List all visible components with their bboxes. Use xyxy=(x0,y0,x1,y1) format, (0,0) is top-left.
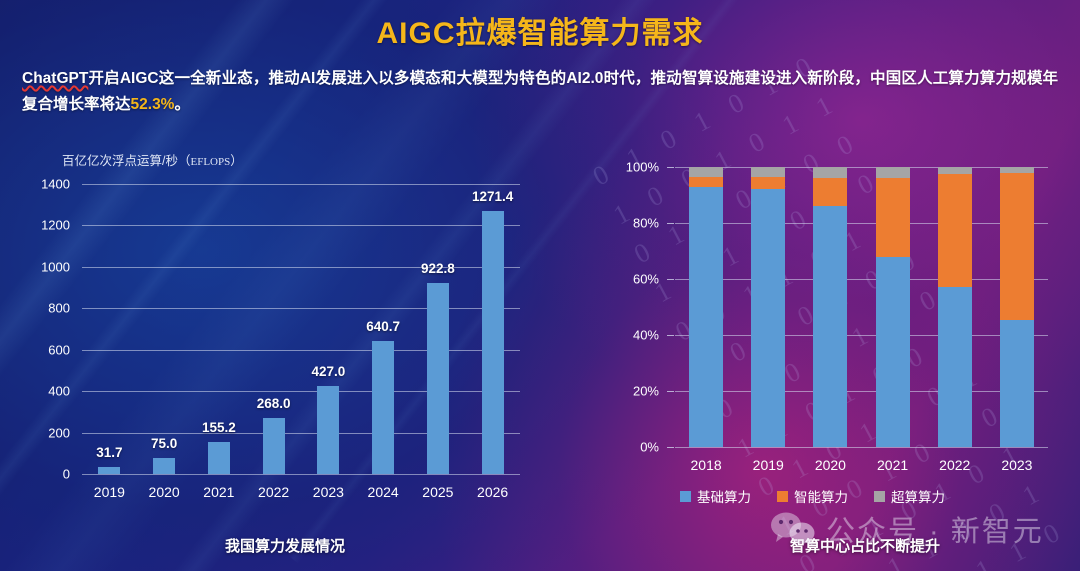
y-axis-tick-label: 40% xyxy=(633,328,659,343)
bar[interactable] xyxy=(208,442,230,474)
stacked-bar-segment[interactable] xyxy=(689,177,723,187)
right-chart-plot-area: 0%20%40%60%80%100%2018201920202021202220… xyxy=(600,160,1070,480)
y-axis-tick xyxy=(667,223,674,224)
stacked-bar-segment[interactable] xyxy=(1000,173,1034,320)
gridline xyxy=(675,167,1048,168)
bar-value-label: 1271.4 xyxy=(472,189,513,204)
y-axis-tick-label: 1400 xyxy=(41,177,70,192)
stacked-bar-segment[interactable] xyxy=(689,167,723,177)
gridline xyxy=(82,474,520,475)
left-chart-plot-area: 020040060080010001200140031.7201975.0202… xyxy=(20,178,540,508)
subtitle-brand: ChatGPT xyxy=(22,70,88,87)
subtitle-paragraph: ChatGPT开启AIGC这一全新业态，推动AI发展进入以多模态和大模型为特色的… xyxy=(0,52,1080,118)
stacked-bar-segment[interactable] xyxy=(689,187,723,447)
y-axis-tick-label: 80% xyxy=(633,216,659,231)
x-axis-tick-label: 2021 xyxy=(203,484,234,500)
subtitle-highlight: 52.3% xyxy=(131,96,175,113)
y-axis-tick-label: 0% xyxy=(640,440,659,455)
stacked-bar-segment[interactable] xyxy=(813,167,847,178)
legend-swatch xyxy=(680,491,691,502)
gridline xyxy=(675,447,1048,448)
bar-value-label: 155.2 xyxy=(202,420,236,435)
y-axis-tick-label: 100% xyxy=(626,160,659,175)
bar[interactable] xyxy=(98,467,120,474)
y-axis-tick-label: 1200 xyxy=(41,218,70,233)
x-axis-tick-label: 2021 xyxy=(877,457,908,473)
slide-root: 0 1 0 1 0 1 0 1 0 0 1 0 1 1 0 1 1 0 1 0 … xyxy=(0,0,1080,571)
y-axis-tick-label: 60% xyxy=(633,272,659,287)
stacked-bar-segment[interactable] xyxy=(938,167,972,174)
bar-value-label: 31.7 xyxy=(96,445,122,460)
x-axis-tick-label: 2018 xyxy=(691,457,722,473)
y-axis-tick-label: 600 xyxy=(48,342,70,357)
y-axis-tick xyxy=(667,335,674,336)
gridline xyxy=(82,308,520,309)
stacked-bar-segment[interactable] xyxy=(1000,320,1034,447)
x-axis-tick-label: 2019 xyxy=(753,457,784,473)
legend-label: 智能算力 xyxy=(794,486,848,506)
legend-label: 基础算力 xyxy=(697,486,751,506)
y-axis-tick-label: 400 xyxy=(48,384,70,399)
gridline xyxy=(675,335,1048,336)
x-axis-tick-label: 2026 xyxy=(477,484,508,500)
subtitle-tail: 。 xyxy=(174,96,190,113)
y-axis-tick xyxy=(667,167,674,168)
gridline xyxy=(82,184,520,185)
stacked-bar-segment[interactable] xyxy=(1000,167,1034,173)
bar[interactable] xyxy=(317,386,339,474)
axis-title-main: 百亿亿次浮点运算/秒（ xyxy=(62,154,190,168)
bar-value-label: 922.8 xyxy=(421,261,455,276)
stacked-bar-segment[interactable] xyxy=(813,206,847,447)
legend-label: 超算算力 xyxy=(891,486,945,506)
stacked-bar-segment[interactable] xyxy=(813,178,847,206)
y-axis-tick-label: 800 xyxy=(48,301,70,316)
axis-title-unit: EFLOPS xyxy=(190,156,230,168)
legend-item[interactable]: 基础算力 xyxy=(680,486,751,506)
page-title: AIGC拉爆智能算力需求 xyxy=(0,0,1080,52)
stacked-bar-segment[interactable] xyxy=(876,178,910,256)
x-axis-tick-label: 2019 xyxy=(94,484,125,500)
header: AIGC拉爆智能算力需求 ChatGPT开启AIGC这一全新业态，推动AI发展进… xyxy=(0,0,1080,118)
x-axis-tick-label: 2023 xyxy=(1001,457,1032,473)
gridline xyxy=(675,279,1048,280)
y-axis-tick xyxy=(667,279,674,280)
bar-value-label: 268.0 xyxy=(257,396,291,411)
y-axis-tick-label: 0 xyxy=(63,467,70,482)
stacked-bar-segment[interactable] xyxy=(876,167,910,178)
stacked-bar-segment[interactable] xyxy=(876,257,910,447)
bar-value-label: 75.0 xyxy=(151,436,177,451)
left-chart-panel: 百亿亿次浮点运算/秒（EFLOPS） 020040060080010001200… xyxy=(20,150,540,560)
y-axis-tick-label: 20% xyxy=(633,384,659,399)
y-axis-tick-label: 200 xyxy=(48,425,70,440)
left-chart-axis-title: 百亿亿次浮点运算/秒（EFLOPS） xyxy=(62,150,243,169)
bar[interactable] xyxy=(153,458,175,474)
bar-value-label: 427.0 xyxy=(311,364,345,379)
left-chart-caption: 我国算力发展情况 xyxy=(225,535,345,556)
stacked-bar-segment[interactable] xyxy=(938,174,972,287)
bar[interactable] xyxy=(372,341,394,474)
gridline xyxy=(82,391,520,392)
legend-item[interactable]: 超算算力 xyxy=(874,486,945,506)
x-axis-tick-label: 2023 xyxy=(313,484,344,500)
bar[interactable] xyxy=(482,211,504,474)
stacked-bar-segment[interactable] xyxy=(938,287,972,447)
legend-swatch xyxy=(874,491,885,502)
right-chart-caption: 智算中心占比不断提升 xyxy=(790,535,940,556)
x-axis-tick-label: 2022 xyxy=(939,457,970,473)
legend-swatch xyxy=(777,491,788,502)
bar[interactable] xyxy=(427,283,449,474)
right-chart-panel: 0%20%40%60%80%100%2018201920202021202220… xyxy=(600,150,1070,560)
axis-title-tail: ） xyxy=(230,154,243,168)
y-axis-tick xyxy=(667,447,674,448)
right-chart-legend: 基础算力智能算力超算算力 xyxy=(680,486,945,506)
y-axis-tick xyxy=(667,391,674,392)
gridline xyxy=(675,391,1048,392)
x-axis-tick-label: 2022 xyxy=(258,484,289,500)
legend-item[interactable]: 智能算力 xyxy=(777,486,848,506)
stacked-bar-segment[interactable] xyxy=(751,177,785,190)
stacked-bar-segment[interactable] xyxy=(751,167,785,177)
x-axis-tick-label: 2025 xyxy=(422,484,453,500)
x-axis-tick-label: 2024 xyxy=(368,484,399,500)
gridline xyxy=(82,433,520,434)
stacked-bar-segment[interactable] xyxy=(751,189,785,447)
x-axis-tick-label: 2020 xyxy=(149,484,180,500)
gridline xyxy=(82,350,520,351)
y-axis-tick-label: 1000 xyxy=(41,259,70,274)
bar[interactable] xyxy=(263,418,285,474)
x-axis-tick-label: 2020 xyxy=(815,457,846,473)
gridline xyxy=(675,223,1048,224)
bar-value-label: 640.7 xyxy=(366,319,400,334)
gridline xyxy=(82,225,520,226)
